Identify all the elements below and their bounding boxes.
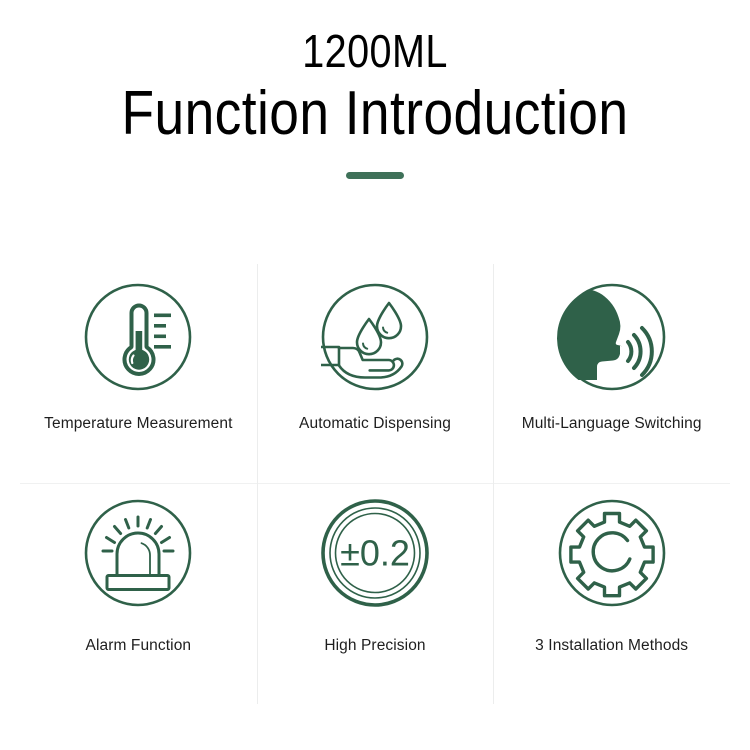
title-accent-bar: [346, 172, 404, 179]
feature-label: Temperature Measurement: [44, 414, 232, 433]
feature-item-installation-methods[interactable]: 3 Installation Methods: [493, 484, 730, 700]
feature-item-alarm-function[interactable]: Alarm Function: [20, 484, 257, 700]
feature-item-high-precision[interactable]: ±0.2 High Precision: [257, 484, 494, 700]
alarm-siren-icon: [79, 494, 197, 612]
gear-icon: [553, 494, 671, 612]
function-introduction-page: 1200ML Function Introduction: [0, 0, 750, 750]
thermometer-icon: [79, 278, 197, 396]
feature-item-temperature-measurement[interactable]: Temperature Measurement: [20, 268, 257, 484]
feature-label: Alarm Function: [86, 636, 192, 655]
feature-label: 3 Installation Methods: [535, 636, 688, 655]
feature-item-multi-language-switching[interactable]: Multi-Language Switching: [493, 268, 730, 484]
hand-droplet-icon: [316, 278, 434, 396]
feature-grid: Temperature Measurement: [20, 268, 730, 700]
speaking-head-icon: [553, 278, 671, 396]
precision-target-icon: ±0.2: [316, 494, 434, 612]
precision-value: ±0.2: [340, 533, 410, 574]
feature-label: High Precision: [324, 636, 425, 655]
page-title: Function Introduction: [53, 78, 698, 150]
page-title-volume: 1200ML: [53, 24, 698, 78]
feature-label: Automatic Dispensing: [299, 414, 451, 433]
page-header: 1200ML Function Introduction: [0, 0, 750, 179]
feature-item-automatic-dispensing[interactable]: Automatic Dispensing: [257, 268, 494, 484]
feature-label: Multi-Language Switching: [522, 414, 702, 433]
